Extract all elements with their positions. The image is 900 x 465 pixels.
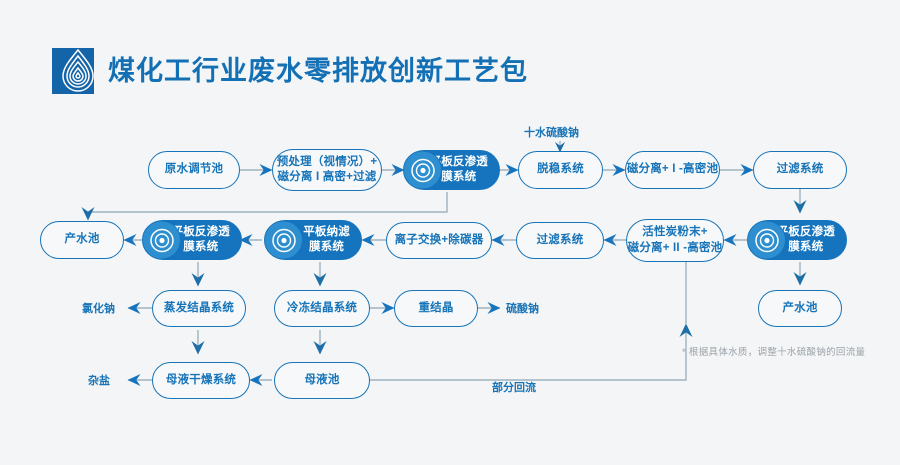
tag-sodium-chloride: 氯化钠 [82, 302, 115, 316]
node-label: 冷冻结晶系统 [287, 301, 357, 316]
node-mother-liquor-drying[interactable]: 母液干燥系统 [152, 362, 250, 399]
node-label: 原水调节池 [165, 162, 224, 177]
node-label: 蒸发结晶系统 [164, 301, 234, 316]
page-header: 煤化工行业废水零排放创新工艺包 [52, 48, 528, 94]
node-flat-ro-membrane-1[interactable]: 平板反渗透 膜系统 [404, 150, 500, 190]
node-label: 活性炭粉末+ 磁分离+ II -高密池 [628, 225, 723, 255]
node-label: 预处理（视情况）+ 磁分离 I 高密+过滤 [277, 155, 378, 185]
node-label: 产水池 [782, 301, 817, 316]
tag-sodium-sulfate: 硫酸钠 [506, 302, 539, 316]
node-label: 平板纳滤 膜系统 [303, 225, 350, 255]
node-label: 母液干燥系统 [166, 373, 236, 388]
node-label: 产水池 [64, 232, 99, 247]
node-label: 过滤系统 [777, 162, 824, 177]
node-label: 过滤系统 [537, 233, 584, 248]
node-label: 磁分离+ I -高密池 [627, 162, 718, 177]
node-label: 脱稳系统 [537, 162, 584, 177]
node-mother-liquor-tank[interactable]: 母液池 [274, 362, 370, 399]
tag-sodium-sulfate-decahydrate: 十水硫酸钠 [524, 126, 579, 140]
node-recrystallization[interactable]: 重结晶 [394, 290, 478, 327]
membrane-disc-icon [747, 221, 786, 260]
membrane-disc-icon [264, 221, 303, 260]
node-activated-carbon-magnetic-separation-2[interactable]: 活性炭粉末+ 磁分离+ II -高密池 [626, 219, 724, 262]
node-magnetic-separation-1[interactable]: 磁分离+ I -高密池 [625, 151, 720, 189]
page-title: 煤化工行业废水零排放创新工艺包 [108, 58, 528, 85]
node-flat-ro-membrane-2[interactable]: 平板反渗透 膜系统 [143, 220, 242, 260]
node-product-water-tank-1[interactable]: 产水池 [40, 221, 124, 259]
water-ripple-logo-icon [52, 48, 94, 94]
membrane-disc-icon [403, 151, 442, 190]
node-destabilization-system[interactable]: 脱稳系统 [518, 151, 603, 189]
node-flat-ro-membrane-3[interactable]: 平板反渗透 膜系统 [748, 220, 847, 260]
node-filtration-system-1[interactable]: 过滤系统 [753, 151, 847, 189]
tag-mixed-salt: 杂盐 [88, 374, 110, 388]
diagram-stage: 煤化工行业废水零排放创新工艺包 [0, 0, 900, 465]
node-product-water-tank-2[interactable]: 产水池 [758, 290, 842, 327]
node-freeze-crystallization[interactable]: 冷冻结晶系统 [274, 290, 370, 327]
membrane-disc-icon [142, 221, 181, 260]
node-label: 离子交换+除碳器 [395, 233, 484, 248]
node-label: 重结晶 [418, 301, 453, 316]
tag-partial-reflux: 部分回流 [492, 381, 536, 395]
node-flat-nf-membrane[interactable]: 平板纳滤 膜系统 [265, 220, 362, 260]
footnote-reflux-adjustment: * 根据具体水质，调整十水硫酸钠的回流量 [682, 344, 865, 358]
node-pretreatment[interactable]: 预处理（视情况）+ 磁分离 I 高密+过滤 [272, 149, 382, 191]
node-raw-water-tank[interactable]: 原水调节池 [148, 151, 240, 189]
node-filtration-system-2[interactable]: 过滤系统 [516, 222, 604, 259]
node-ion-exchange-decarbonator[interactable]: 离子交换+除碳器 [386, 222, 492, 259]
node-label: 母液池 [304, 373, 339, 388]
node-evaporation-crystallization[interactable]: 蒸发结晶系统 [152, 290, 246, 327]
